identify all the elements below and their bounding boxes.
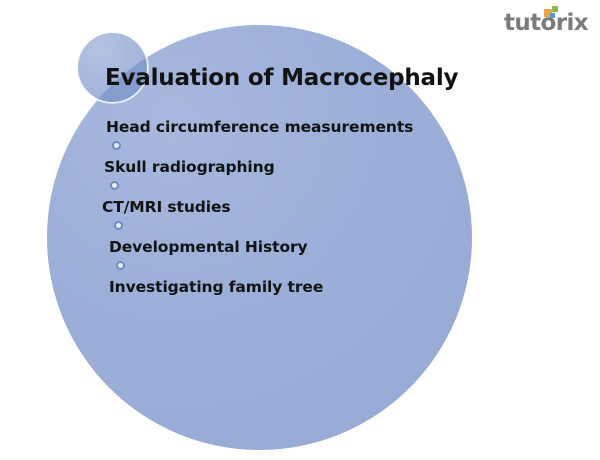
bullet-list: Head circumference measurements Skull ra…	[100, 118, 480, 318]
slide-title: Evaluation of Macrocephaly	[105, 65, 458, 91]
list-item-label: Investigating family tree	[109, 278, 323, 296]
list-item-label: Skull radiographing	[104, 158, 275, 176]
list-item: Investigating family tree	[100, 278, 480, 318]
tutorix-logo: tutorix	[468, 4, 588, 38]
list-item-label: Developmental History	[109, 238, 308, 256]
logo-wordmark: tutorix	[468, 12, 588, 35]
list-item: Head circumference measurements	[100, 118, 480, 158]
slide-canvas: tutorix Evaluation of Macrocephaly Head …	[0, 0, 600, 460]
hollow-circle-bullet-icon	[112, 141, 121, 150]
list-item: CT/MRI studies	[100, 198, 480, 238]
list-item: Developmental History	[100, 238, 480, 278]
list-item-label: CT/MRI studies	[102, 198, 231, 216]
hollow-circle-bullet-icon	[110, 181, 119, 190]
hollow-circle-bullet-icon	[116, 261, 125, 270]
list-item: Skull radiographing	[100, 158, 480, 198]
list-item-label: Head circumference measurements	[106, 118, 413, 136]
hollow-circle-bullet-icon	[114, 221, 123, 230]
